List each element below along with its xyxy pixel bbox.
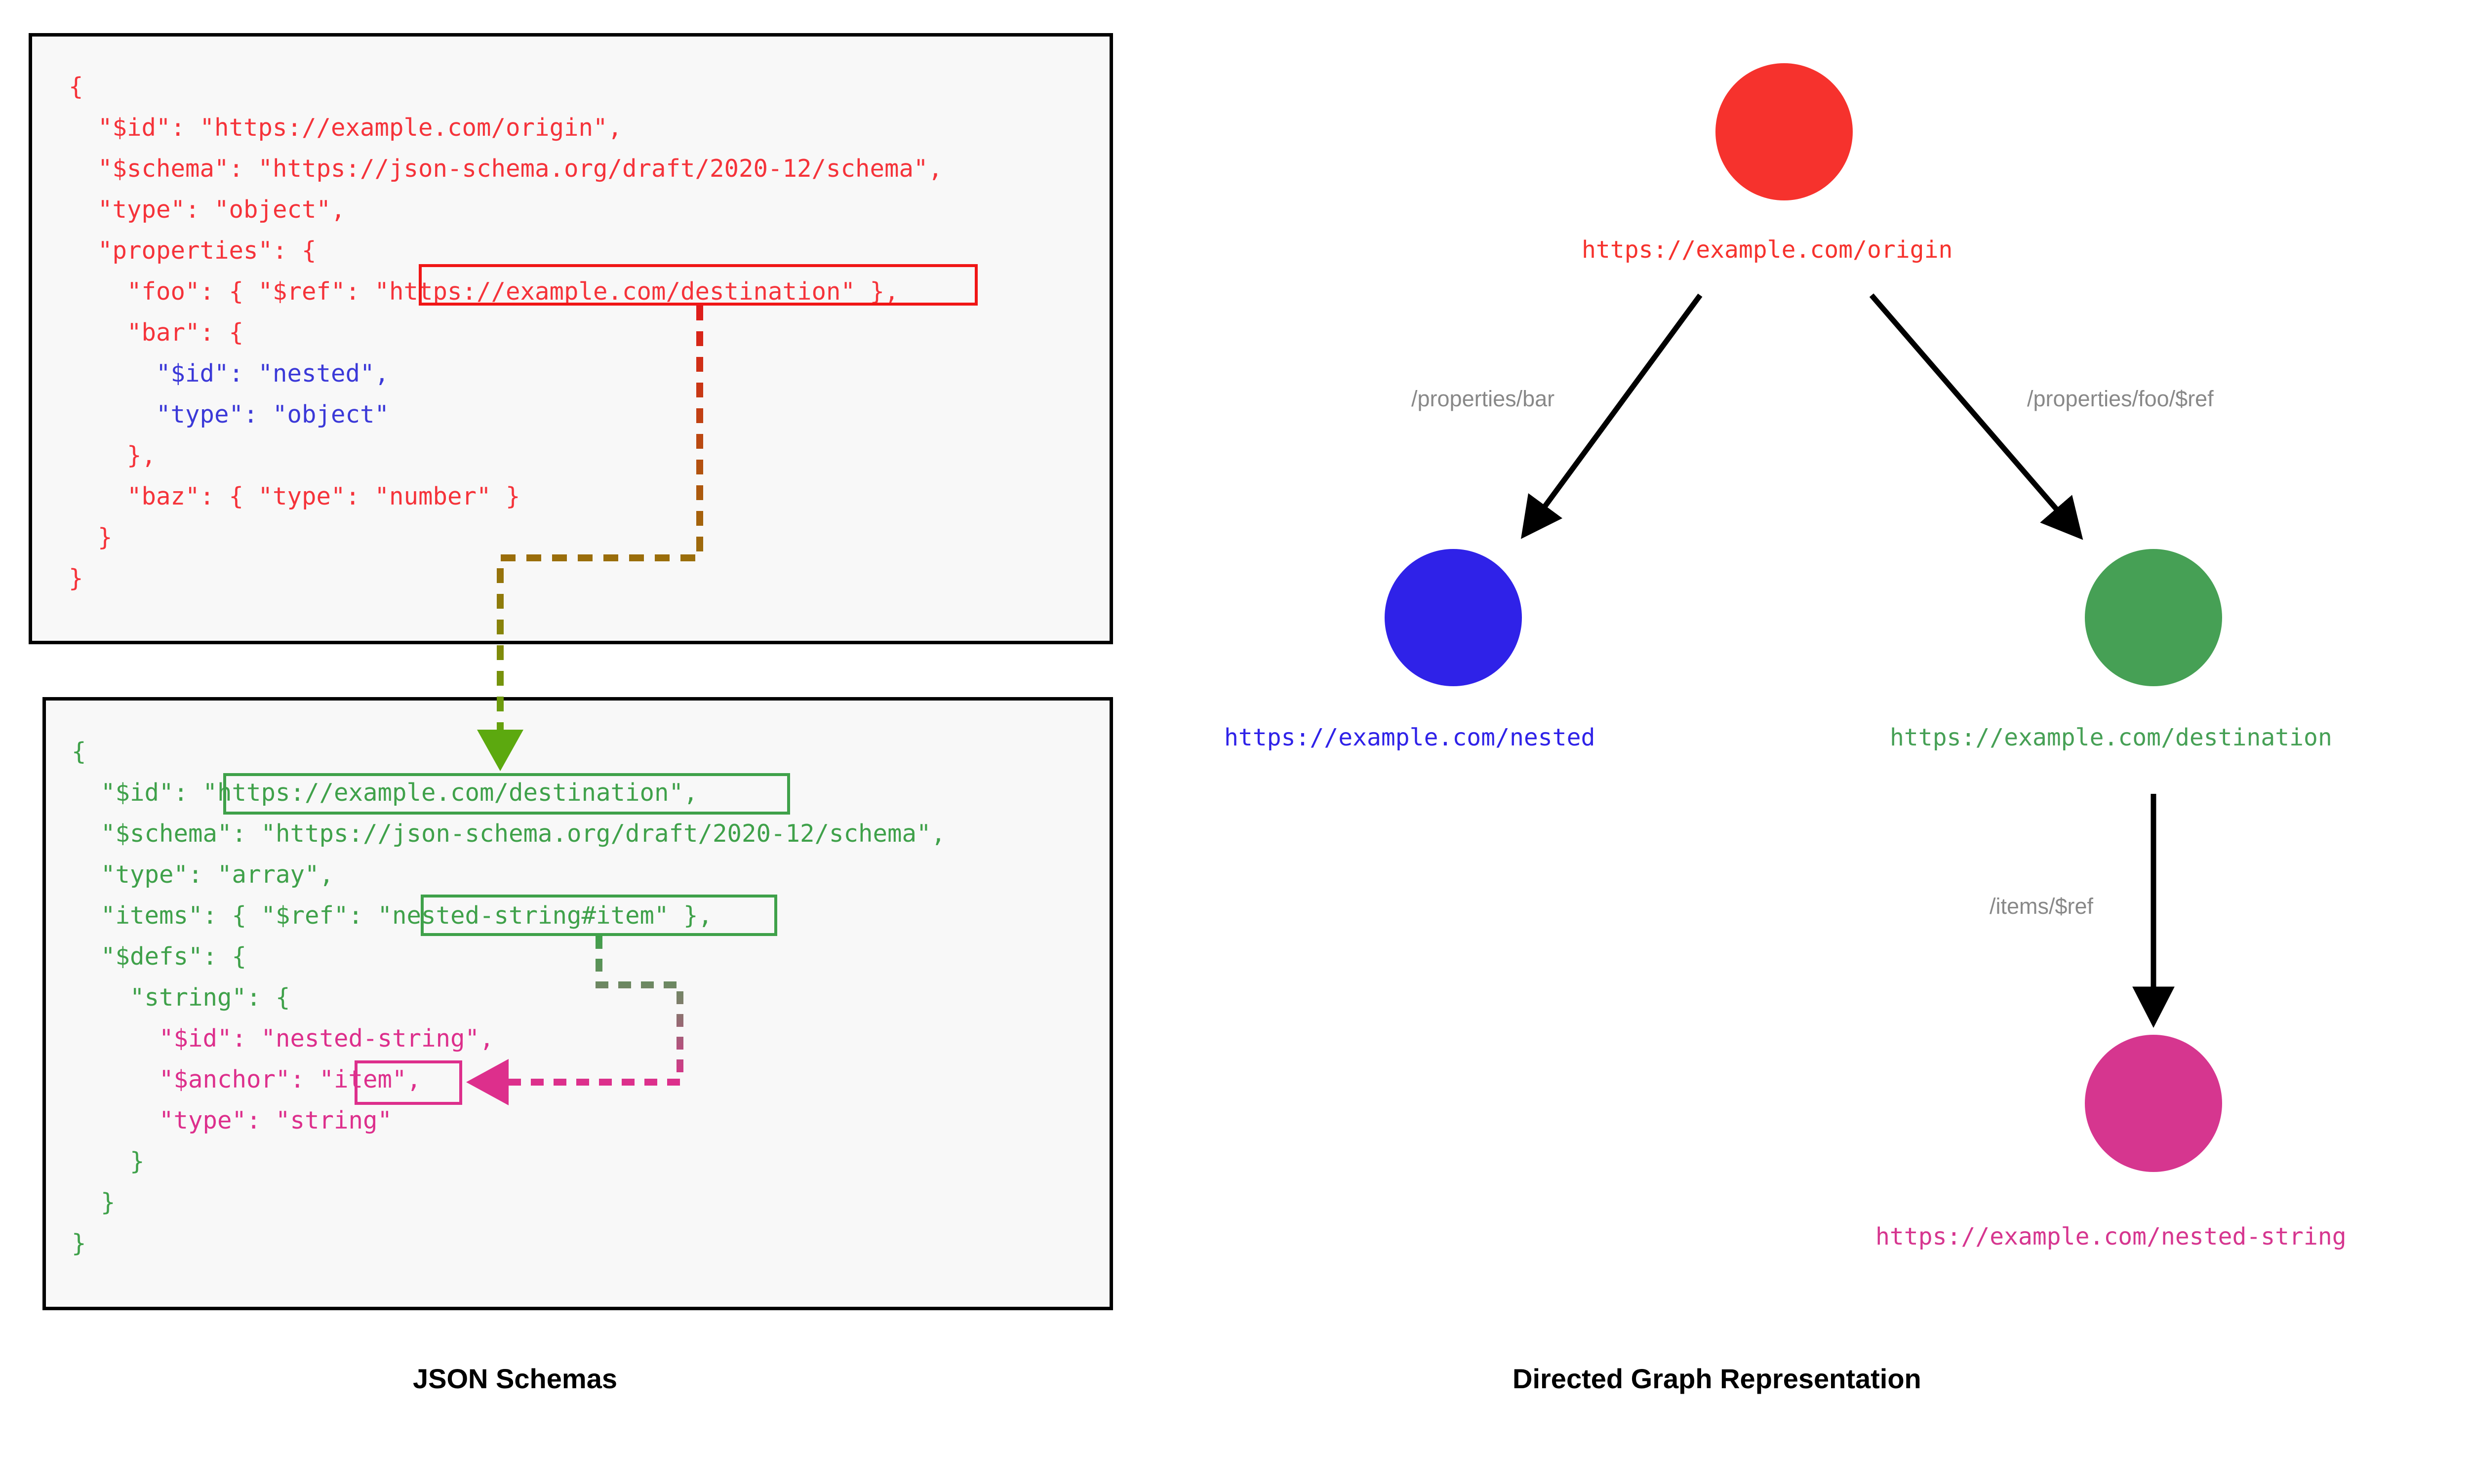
code-token: "type": "object" xyxy=(69,400,389,429)
code-token: "$schema": "https://json-schema.org/draf… xyxy=(69,155,943,183)
code-line: } xyxy=(72,1223,1135,1264)
schema-code-block-origin: { "$id": "https://example.com/origin", "… xyxy=(29,33,1113,644)
code-line: }, xyxy=(69,435,1146,476)
caption-json-schemas: JSON Schemas xyxy=(413,1363,617,1395)
code-line: } xyxy=(69,517,1146,558)
graph-edge-origin-to-destination xyxy=(1872,295,2076,532)
graph-node-destination xyxy=(2085,549,2222,686)
code-line: "string": { xyxy=(72,977,1135,1018)
code-token: }, xyxy=(69,441,156,469)
graph-node-nested xyxy=(1385,549,1522,686)
code-line: "$id": "https://example.com/origin", xyxy=(69,107,1146,148)
schema-origin-lines: { "$id": "https://example.com/origin", "… xyxy=(32,37,1146,599)
code-token: { xyxy=(69,73,83,101)
code-token: } xyxy=(72,1147,145,1175)
code-line: "$schema": "https://json-schema.org/draf… xyxy=(72,813,1135,854)
code-line: "$id": "nested", xyxy=(69,353,1146,394)
code-token: "$id": "nested-string", xyxy=(72,1024,494,1053)
code-line: "type": "array", xyxy=(72,854,1135,895)
code-token: "type": "array", xyxy=(72,860,334,889)
graph-node-nested-string xyxy=(2085,1035,2222,1172)
code-token: "baz": { "type": "number" } xyxy=(69,482,520,510)
code-line: "$id": "nested-string", xyxy=(72,1018,1135,1059)
graph-node-label-nested-string: https://example.com/nested-string xyxy=(1875,1223,2347,1250)
code-token: } xyxy=(69,523,113,551)
highlight-anchor-item-value xyxy=(355,1060,462,1105)
graph-node-origin xyxy=(1715,63,1853,200)
code-token: } xyxy=(72,1188,116,1216)
graph-edge-label-properties-bar: /properties/bar xyxy=(1411,386,1554,412)
code-line: "$schema": "https://json-schema.org/draf… xyxy=(69,148,1146,189)
diagram-canvas: { "$id": "https://example.com/origin", "… xyxy=(0,0,2469,1484)
graph-edge-label-items-ref: /items/$ref xyxy=(1990,894,2093,919)
code-line: "bar": { xyxy=(69,312,1146,353)
code-line: { xyxy=(69,66,1146,107)
code-token: { xyxy=(72,738,86,766)
highlight-foo-ref-value xyxy=(419,264,978,306)
graph-edge-label-properties-foo-ref: /properties/foo/$ref xyxy=(2027,386,2214,412)
code-line: "type": "object", xyxy=(69,189,1146,230)
code-token: "type": "string" xyxy=(72,1106,392,1134)
code-token: "$defs": { xyxy=(72,942,246,971)
code-line: "type": "string" xyxy=(72,1100,1135,1141)
code-token: "properties": { xyxy=(69,236,317,265)
code-token: "$id": "nested", xyxy=(69,359,389,388)
graph-node-label-destination: https://example.com/destination xyxy=(1890,724,2332,751)
code-line: "baz": { "type": "number" } xyxy=(69,476,1146,517)
code-line: } xyxy=(69,558,1146,599)
graph-node-label-origin: https://example.com/origin xyxy=(1582,236,1952,264)
code-token: "type": "object", xyxy=(69,195,346,224)
code-line: { xyxy=(72,731,1135,772)
code-line: "$anchor": "item", xyxy=(72,1059,1135,1100)
code-line: } xyxy=(72,1182,1135,1223)
highlight-items-ref-value xyxy=(421,895,777,936)
code-token: "$schema": "https://json-schema.org/draf… xyxy=(72,820,946,848)
code-token: "string": { xyxy=(72,983,290,1012)
graph-edge-origin-to-nested xyxy=(1527,295,1700,530)
highlight-destination-id xyxy=(223,773,790,815)
code-token: } xyxy=(69,564,83,592)
code-token: "bar": { xyxy=(69,318,243,347)
code-line: } xyxy=(72,1141,1135,1182)
graph-node-label-nested: https://example.com/nested xyxy=(1224,724,1595,751)
caption-directed-graph: Directed Graph Representation xyxy=(1513,1363,1921,1395)
code-token: "$id": "https://example.com/origin", xyxy=(69,114,622,142)
code-token: } xyxy=(72,1229,86,1257)
code-line: "type": "object" xyxy=(69,394,1146,435)
code-line: "$defs": { xyxy=(72,936,1135,977)
